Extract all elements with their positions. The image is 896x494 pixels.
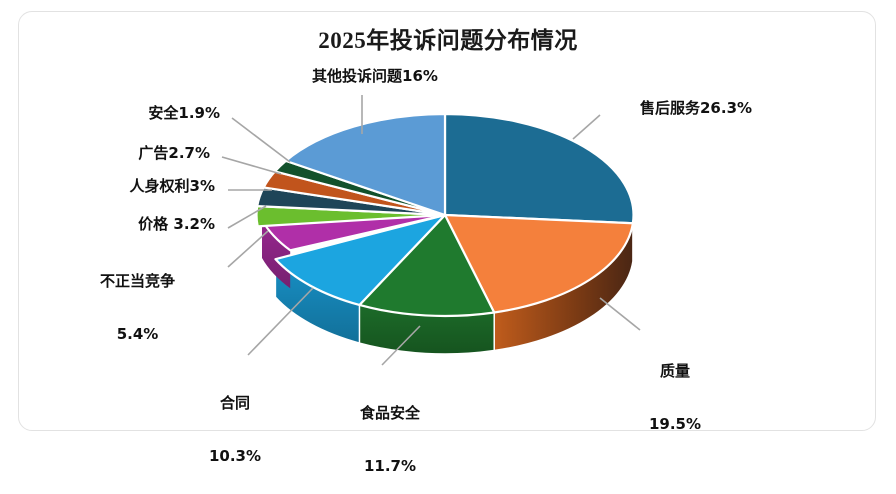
label-unfair-competition: 不正当竞争 5.4% — [55, 238, 220, 362]
label-personal-rights: 人身权利3% — [60, 178, 215, 196]
pie-top-face — [256, 114, 633, 316]
leader-line-quality — [600, 298, 640, 330]
label-food-safety-line1: 食品安全 — [330, 405, 450, 423]
label-unfair-competition-line1: 不正当竞争 — [55, 273, 220, 291]
label-unfair-competition-line2: 5.4% — [55, 326, 220, 344]
label-quality: 质量 19.5% — [630, 328, 720, 452]
pie-slice-after-sales[interactable] — [445, 114, 633, 223]
label-advertising: 广告2.7% — [80, 145, 210, 163]
leader-line-advertising — [222, 157, 281, 174]
leader-line-after-sales — [573, 115, 600, 139]
leader-line-safety — [232, 118, 290, 162]
label-after-sales: 售后服务26.3% — [640, 100, 752, 118]
label-other: 其他投诉问题16% — [290, 68, 460, 86]
label-price: 价格 3.2% — [60, 216, 215, 234]
label-quality-line1: 质量 — [630, 363, 720, 381]
label-food-safety-line2: 11.7% — [330, 458, 450, 476]
label-contract-line2: 10.3% — [180, 448, 290, 466]
label-food-safety: 食品安全 11.7% — [330, 370, 450, 494]
label-contract-line1: 合同 — [180, 395, 290, 413]
label-contract: 合同 10.3% — [180, 360, 290, 484]
label-quality-line2: 19.5% — [630, 416, 720, 434]
label-safety: 安全1.9% — [100, 105, 220, 123]
